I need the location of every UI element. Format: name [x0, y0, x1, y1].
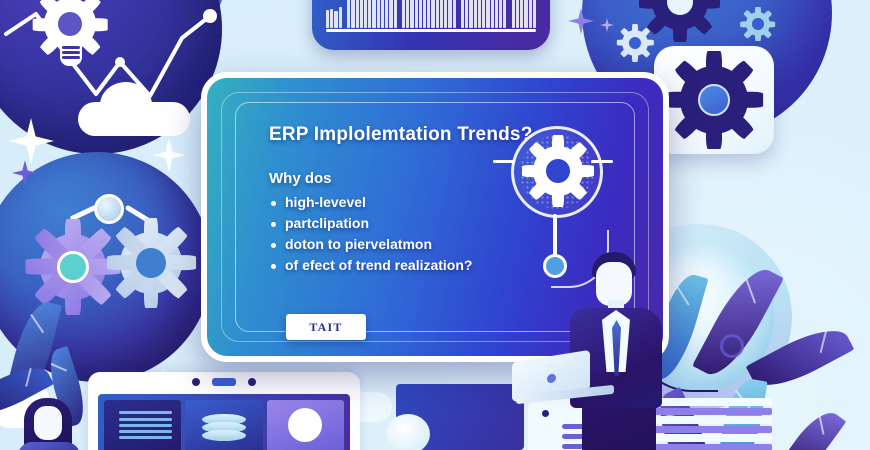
gear-card	[654, 46, 774, 154]
illustration-canvas: ERP Implolemtation Trends? Why dos high-…	[0, 0, 870, 450]
gear-icon	[680, 66, 748, 134]
lightbulb-gear-group	[38, 0, 102, 90]
lightbulb-icon	[60, 44, 82, 66]
document-icon	[104, 400, 181, 450]
gear-icon	[622, 30, 648, 56]
face	[34, 406, 62, 440]
gauge-icon	[267, 400, 344, 450]
torso	[18, 442, 80, 450]
person-figure-businessman	[556, 252, 686, 450]
camera-dot-icon	[192, 378, 200, 386]
gear-icon	[746, 12, 770, 36]
list-item: of efect of trend realization?	[269, 255, 472, 276]
laptop-icon	[512, 356, 618, 404]
speaker-pill-icon	[212, 378, 236, 386]
list-item: high-levevel	[269, 192, 472, 213]
list-item: partclipation	[269, 213, 472, 234]
tablet-top-bar	[88, 372, 360, 392]
database-stack-icon	[185, 400, 262, 450]
tablet-screen	[98, 394, 350, 450]
camera-dot-icon	[542, 410, 549, 417]
gear-icon	[44, 0, 96, 50]
gear-icon	[120, 232, 182, 294]
gear-icon	[652, 0, 708, 30]
gear-icon	[533, 146, 583, 196]
camera-dot-icon	[248, 378, 256, 386]
spiral-icon	[720, 334, 744, 358]
list-item: doton to piervelatmon	[269, 234, 472, 255]
cta-button[interactable]: TAIT	[286, 314, 366, 340]
leaf-icon	[780, 404, 847, 450]
bar-chart-panel	[312, 0, 550, 50]
tablet-device-left	[88, 372, 360, 450]
cloud-icon	[78, 102, 190, 136]
gear-icon	[40, 234, 106, 300]
node-circle-icon	[94, 194, 124, 224]
bar-chart-baseline	[326, 29, 536, 32]
panel-bullet-list: high-levevel partclipation doton to pier…	[269, 192, 472, 276]
screen-glow	[386, 414, 430, 450]
sparkle-icon	[152, 138, 186, 172]
person-figure-woman	[8, 398, 94, 450]
panel-subhead: Why dos	[269, 170, 332, 187]
bar-chart-bars	[326, 0, 536, 28]
